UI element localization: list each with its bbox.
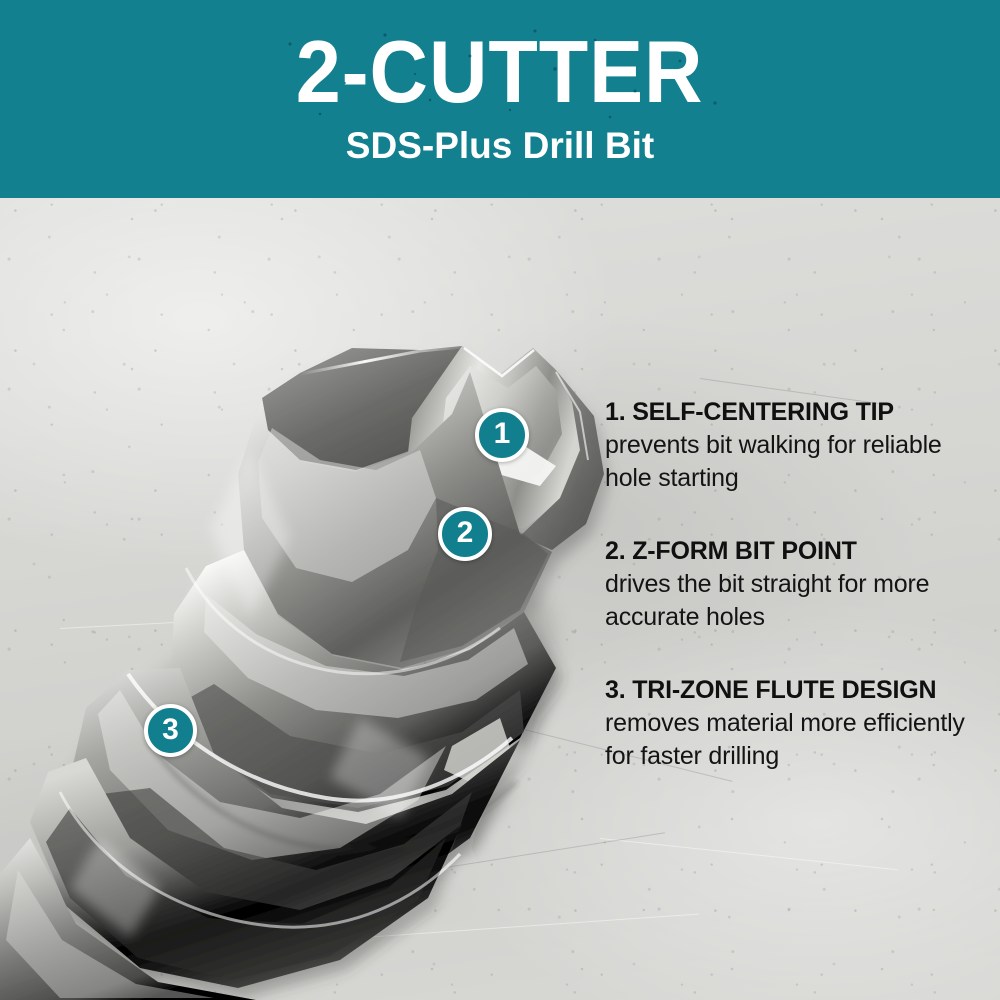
callout-badge-1[interactable]: 1 [475, 408, 529, 462]
callout-badge-3-number: 3 [162, 715, 179, 745]
feature-item-1: 1. SELF-CENTERING TIP prevents bit walki… [605, 396, 965, 495]
callout-badge-2[interactable]: 2 [438, 507, 492, 561]
header-banner: 2-CUTTER SDS-Plus Drill Bit [0, 0, 1000, 198]
feature-3-heading: 3. TRI-ZONE FLUTE DESIGN [605, 674, 965, 707]
page-title: 2-CUTTER [296, 26, 704, 118]
callout-badge-2-number: 2 [457, 518, 474, 548]
feature-3-body: removes material more efficiently for fa… [605, 707, 965, 773]
callout-badge-1-number: 1 [494, 419, 511, 449]
feature-item-2: 2. Z-FORM BIT POINT drives the bit strai… [605, 535, 965, 634]
callout-badge-3[interactable]: 3 [144, 704, 197, 757]
feature-list: 1. SELF-CENTERING TIP prevents bit walki… [605, 396, 965, 773]
product-infographic: 2-CUTTER SDS-Plus Drill Bit [0, 0, 1000, 1000]
feature-item-3: 3. TRI-ZONE FLUTE DESIGN removes materia… [605, 674, 965, 773]
feature-1-body: prevents bit walking for reliable hole s… [605, 429, 965, 495]
feature-1-heading: 1. SELF-CENTERING TIP [605, 396, 965, 429]
feature-2-body: drives the bit straight for more accurat… [605, 568, 965, 634]
feature-2-heading: 2. Z-FORM BIT POINT [605, 535, 965, 568]
page-subtitle: SDS-Plus Drill Bit [346, 124, 654, 168]
